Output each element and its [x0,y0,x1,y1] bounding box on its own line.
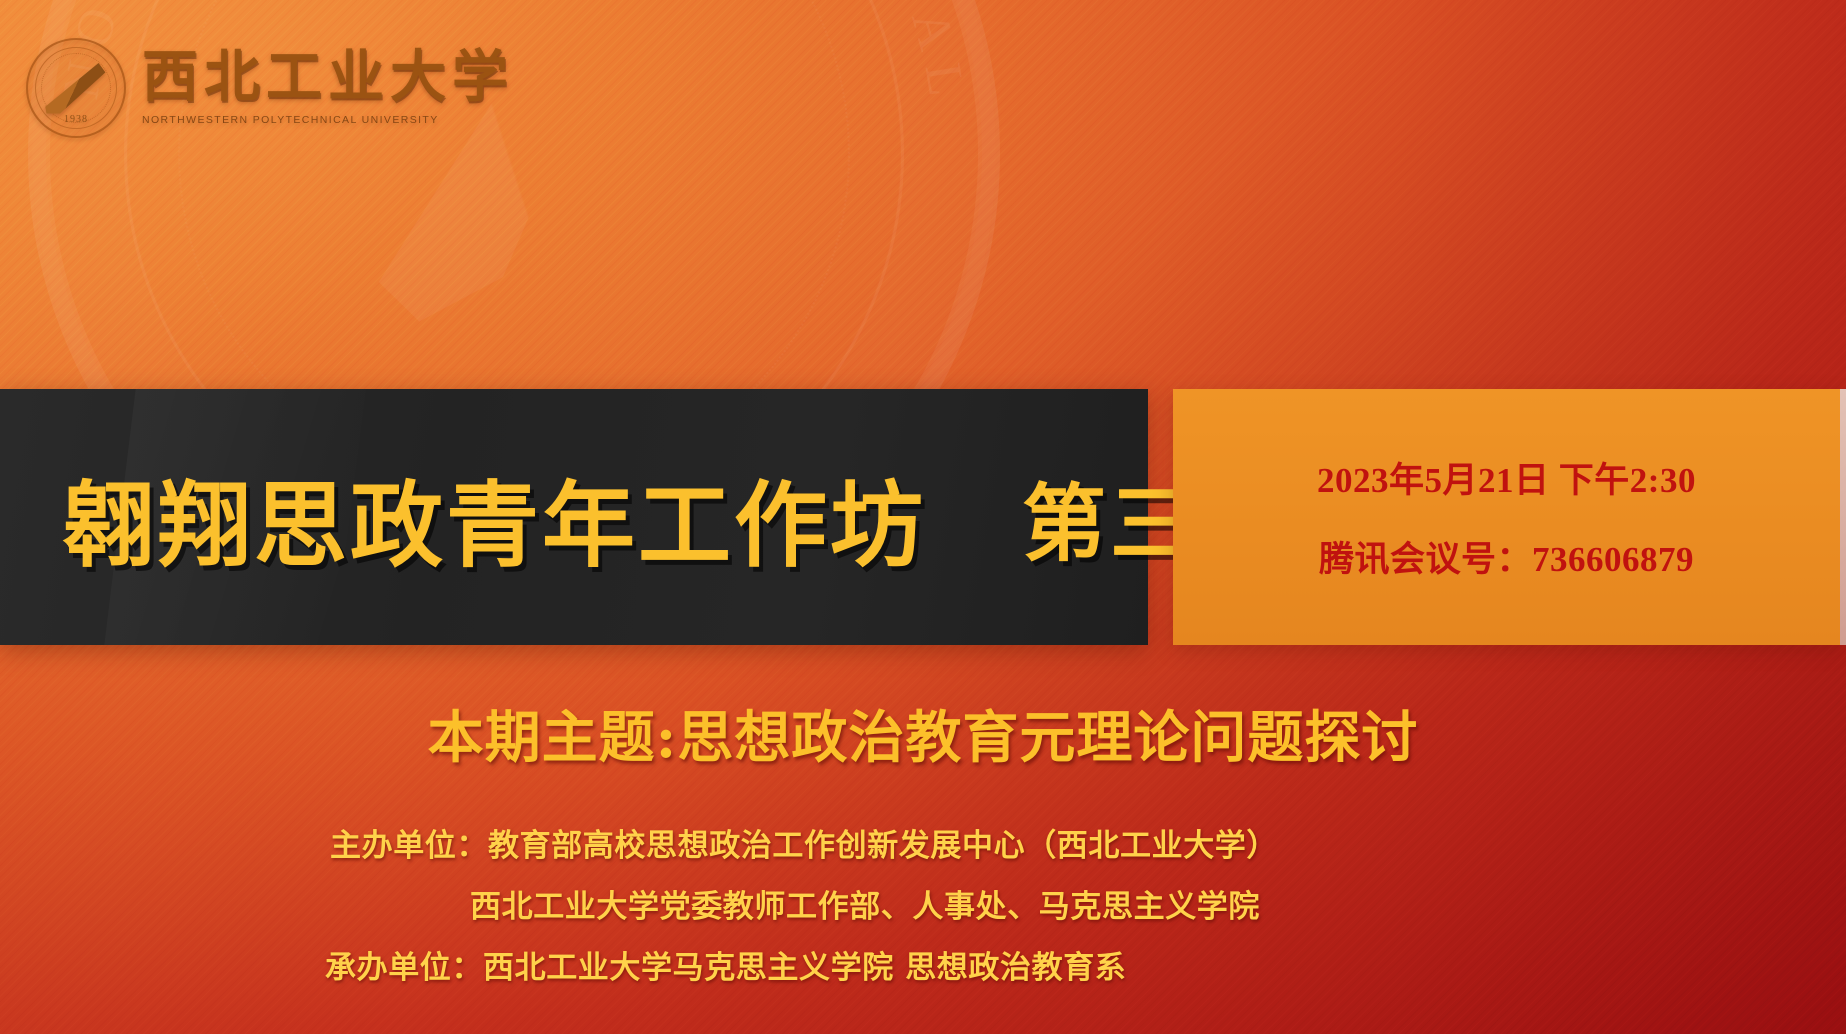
right-edge-strip [1840,389,1846,645]
logo-name-en: NORTHWESTERN POLYTECHNICAL UNIVERSITY [142,115,514,126]
workshop-title: 翱翔思政青年工作坊 [62,450,926,585]
session-theme: 本期主题:思想政治教育元理论问题探讨 [0,693,1846,774]
logo-name-cn: 西北工业大学 [142,50,514,106]
university-logo: 1938 西北工业大学 NORTHWESTERN POLYTECHNICAL U… [26,38,514,138]
meeting-id: 腾讯会议号：736606879 [1319,531,1694,582]
logo-wordmark: 西北工业大学 NORTHWESTERN POLYTECHNICAL UNIVER… [142,50,514,126]
organizer-line: 西北工业大学党委教师工作部、人事处、马克思主义学院 [0,881,1846,926]
title-band: 翱翔思政青年工作坊 第三期 [0,389,1148,645]
organizer-block: 主办单位：教育部高校思想政治工作创新发展中心（西北工业大学） 西北工业大学党委教… [0,820,1846,987]
event-datetime: 2023年5月21日 下午2:30 [1317,452,1696,503]
organizer-line: 承办单位：西北工业大学马克思主义学院 思想政治教育系 [0,942,1846,987]
event-info-box: 2023年5月21日 下午2:30 腾讯会议号：736606879 [1173,389,1840,645]
organizer-line: 主办单位：教育部高校思想政治工作创新发展中心（西北工业大学） [0,820,1846,865]
poster-canvas: NORTHWESTERN POLYTECHNICAL UNIVERSITY 19… [0,0,1846,1034]
university-seal-icon: 1938 [26,38,126,138]
seal-icon-year: 1938 [28,114,124,125]
